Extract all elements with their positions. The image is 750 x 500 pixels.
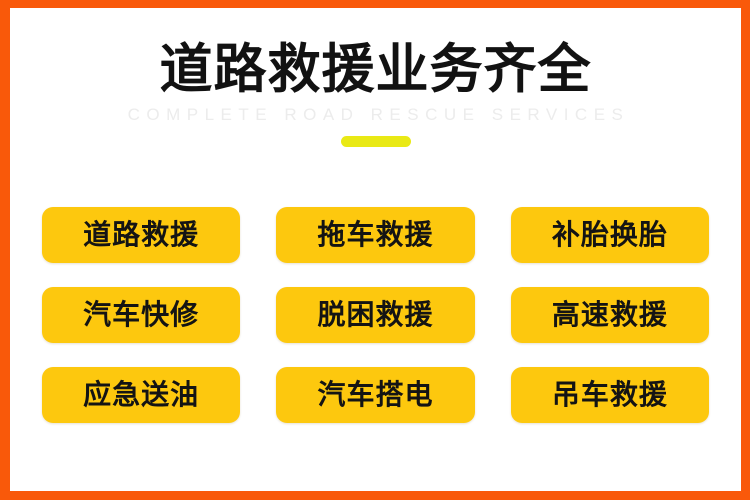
service-chip-crane-rescue[interactable]: 吊车救援 (511, 367, 709, 423)
service-chip-label: 吊车救援 (552, 381, 668, 409)
service-chip-label: 汽车搭电 (317, 381, 433, 409)
poster-canvas: 道路救援业务齐全 COMPLETE ROAD RESCUE SERVICES 道… (10, 8, 741, 491)
poster-frame: 道路救援业务齐全 COMPLETE ROAD RESCUE SERVICES 道… (0, 0, 750, 500)
service-grid: 道路救援 拖车救援 补胎换胎 汽车快修 脱困救援 高速救援 应急送油 汽车搭电 (42, 207, 709, 423)
service-chip-label: 补胎换胎 (552, 221, 668, 249)
page-title: 道路救援业务齐全 (10, 42, 741, 98)
accent-divider (341, 136, 411, 147)
service-chip-label: 高速救援 (552, 301, 668, 329)
poster-header: 道路救援业务齐全 COMPLETE ROAD RESCUE SERVICES (10, 42, 741, 147)
service-chip-label: 汽车快修 (83, 301, 199, 329)
service-chip-label: 应急送油 (83, 381, 199, 409)
service-chip-highway-rescue[interactable]: 高速救援 (511, 287, 709, 343)
service-chip-quick-repair[interactable]: 汽车快修 (42, 287, 240, 343)
page-subtitle: COMPLETE ROAD RESCUE SERVICES (10, 105, 741, 125)
service-chip-jump-start[interactable]: 汽车搭电 (276, 367, 474, 423)
service-chip-emergency-fuel[interactable]: 应急送油 (42, 367, 240, 423)
service-chip-label: 脱困救援 (317, 301, 433, 329)
service-chip-label: 拖车救援 (317, 221, 433, 249)
service-chip-tow-rescue[interactable]: 拖车救援 (276, 207, 474, 263)
service-chip-road-rescue[interactable]: 道路救援 (42, 207, 240, 263)
service-chip-tire-repair[interactable]: 补胎换胎 (511, 207, 709, 263)
service-chip-label: 道路救援 (83, 221, 199, 249)
service-chip-extrication[interactable]: 脱困救援 (276, 287, 474, 343)
